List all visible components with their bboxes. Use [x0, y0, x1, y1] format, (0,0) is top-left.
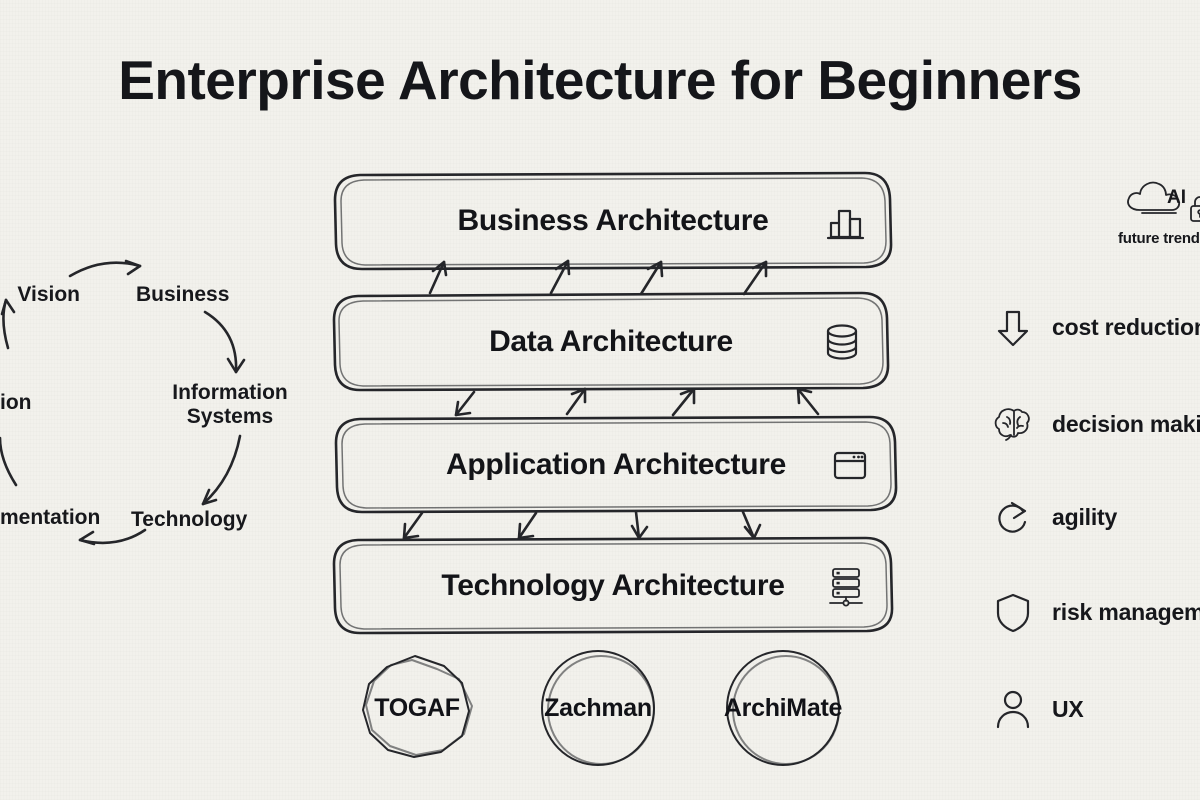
adm-node-label-information: Information — [172, 381, 288, 404]
benefit-label-decision-making: decision making — [1052, 411, 1200, 438]
layer-data-architecture[interactable]: Data Architecture — [334, 293, 888, 390]
adm-node-label-technology: Technology — [131, 508, 247, 531]
adm-node-label-migration: ion — [0, 391, 32, 414]
benefit-risk-management[interactable]: risk management — [990, 585, 1200, 639]
ai-label: AI — [1167, 187, 1186, 209]
adm-node-label-systems: Systems — [187, 405, 273, 428]
framework-badge-zachman[interactable]: Zachman — [533, 648, 663, 768]
adm-node-technology[interactable]: Technology — [131, 508, 247, 532]
future-trends-caption: future trends — [1118, 230, 1200, 247]
adm-node-label-implementation: mentation — [0, 506, 100, 529]
shield-icon — [990, 589, 1036, 635]
padlock-icon — [1187, 194, 1200, 224]
application-window-icon — [826, 441, 874, 489]
brain-icon — [990, 401, 1036, 447]
down-arrow-icon — [990, 304, 1036, 350]
framework-label-togaf: TOGAF — [374, 694, 460, 723]
person-icon — [990, 686, 1036, 732]
layer-application-architecture[interactable]: Application Architecture — [336, 417, 896, 512]
framework-badge-archimate[interactable]: ArchiMate — [718, 648, 848, 768]
layer-label-data: Data Architecture — [489, 325, 733, 359]
benefit-decision-making[interactable]: decision making — [990, 397, 1200, 451]
adm-node-vision[interactable]: Vision — [0, 283, 80, 307]
layer-business-architecture[interactable]: Business Architecture — [335, 173, 891, 269]
benefit-ux[interactable]: UX — [990, 682, 1084, 736]
database-cylinder-icon — [818, 318, 866, 366]
future-trends-art: AI — [1118, 176, 1200, 228]
office-building-icon — [821, 197, 869, 245]
benefit-label-agility: agility — [1052, 504, 1117, 531]
framework-label-zachman: Zachman — [544, 694, 652, 723]
benefit-agility[interactable]: agility — [990, 490, 1117, 544]
layer-technology-architecture[interactable]: Technology Architecture — [334, 538, 892, 633]
framework-badge-togaf[interactable]: TOGAF — [352, 648, 482, 768]
adm-node-label-vision: Vision — [17, 283, 80, 306]
benefit-label-risk-management: risk management — [1052, 599, 1200, 626]
adm-node-business[interactable]: Business — [136, 283, 229, 307]
adm-node-information-systems[interactable]: Information Systems — [168, 381, 292, 428]
page-title: Enterprise Architecture for Beginners — [0, 48, 1200, 112]
connector-arrows-application-to-technology — [404, 512, 760, 538]
benefit-label-ux: UX — [1052, 696, 1084, 723]
refresh-arrow-icon — [990, 494, 1036, 540]
adm-node-migration[interactable]: ion — [0, 391, 30, 415]
layer-label-technology: Technology Architecture — [441, 569, 784, 603]
diagram-canvas: Enterprise Architecture for Beginners — [0, 0, 1200, 800]
benefit-cost-reduction[interactable]: cost reduction — [990, 300, 1200, 354]
future-trends-badge[interactable]: AI future trends — [1118, 176, 1200, 247]
adm-node-label-business: Business — [136, 283, 229, 306]
layer-label-application: Application Architecture — [446, 448, 786, 482]
adm-node-implementation[interactable]: mentation — [0, 506, 100, 530]
framework-label-archimate: ArchiMate — [724, 694, 842, 723]
layer-label-business: Business Architecture — [457, 204, 768, 238]
connector-arrows-application-to-data — [456, 389, 818, 415]
server-rack-icon — [822, 562, 870, 610]
benefit-label-cost-reduction: cost reduction — [1052, 314, 1200, 341]
